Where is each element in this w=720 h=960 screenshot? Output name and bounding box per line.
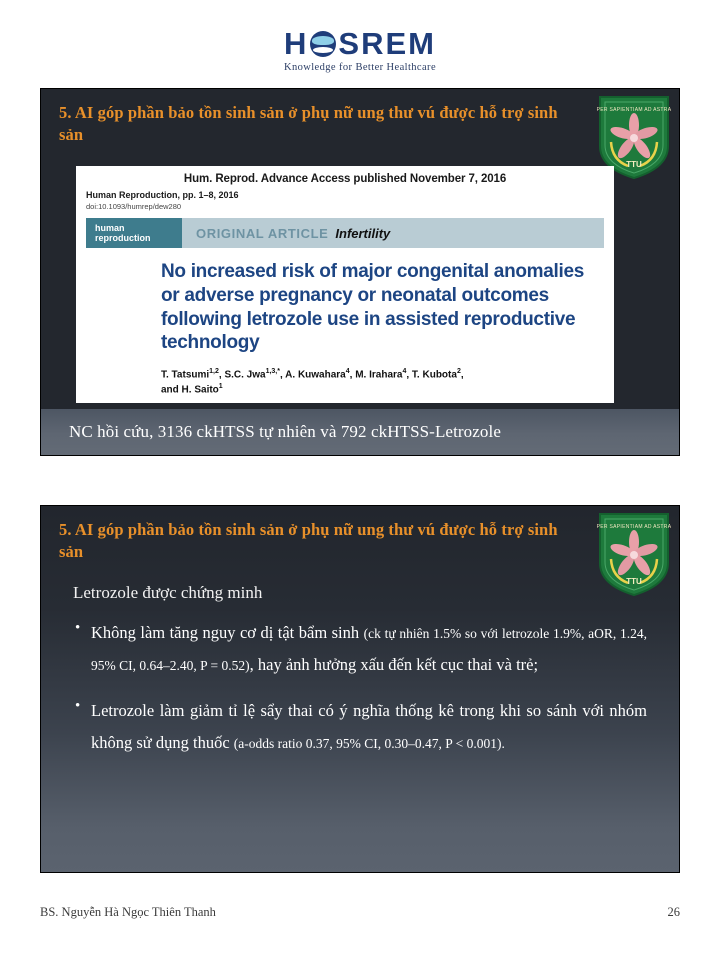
svg-text:PER SAPIENTIAM AD ASTRA: PER SAPIENTIAM AD ASTRA bbox=[597, 107, 672, 113]
bullet-text: Letrozole làm giảm tỉ lệ sẩy thai có ý n… bbox=[91, 695, 657, 759]
author-sep-5: , bbox=[461, 369, 464, 380]
author-name-last: and H. Saito bbox=[161, 385, 219, 396]
journal-banner: human reproduction ORIGINAL ARTICLE Infe… bbox=[86, 218, 604, 248]
svg-text:PER SAPIENTIAM AD ASTRA: PER SAPIENTIAM AD ASTRA bbox=[597, 524, 672, 530]
kicker-subject: Infertility bbox=[335, 226, 390, 241]
bullet-main-text: Không làm tăng nguy cơ dị tật bẩm sinh bbox=[91, 623, 364, 642]
article-authors: T. Tatsumi1,2, S.C. Jwa1,3,*, A. Kuwahar… bbox=[161, 367, 604, 398]
slide-1-title: 5. AI góp phần bảo tồn sinh sản ở phụ nữ… bbox=[41, 89, 679, 146]
lead-line: Letrozole được chứng minh bbox=[69, 583, 657, 603]
logo-tagline: Knowledge for Better Healthcare bbox=[284, 62, 436, 73]
list-item: • Letrozole làm giảm tỉ lệ sẩy thai có ý… bbox=[69, 695, 657, 759]
advance-access-line: Hum. Reprod. Advance Access published No… bbox=[86, 173, 604, 185]
bullet-list: • Không làm tăng nguy cơ dị tật bẩm sinh… bbox=[69, 617, 657, 760]
slide-2: 5. AI góp phần bảo tồn sinh sản ở phụ nữ… bbox=[40, 505, 680, 873]
slide-1-caption: NC hồi cứu, 3136 ckHTSS tự nhiên và 792 … bbox=[41, 409, 679, 455]
hosrem-logo: H SREM bbox=[284, 28, 436, 59]
logo-text-after: SREM bbox=[338, 28, 436, 59]
hosrem-globe-icon bbox=[310, 31, 336, 57]
author-name-1: T. Tatsumi bbox=[161, 369, 209, 380]
footer-author: BS. Nguyễn Hà Ngọc Thiên Thanh bbox=[40, 905, 216, 920]
page-footer: BS. Nguyễn Hà Ngọc Thiên Thanh 26 bbox=[40, 905, 680, 920]
list-item: • Không làm tăng nguy cơ dị tật bẩm sinh… bbox=[69, 617, 657, 681]
author-sup-6: 1 bbox=[219, 383, 223, 390]
slide-1: 5. AI góp phần bảo tồn sinh sản ở phụ nữ… bbox=[40, 88, 680, 456]
bullet-tail-text: , hay ảnh hưởng xấu đến kết cục thai và … bbox=[250, 655, 538, 674]
slide-2-title: 5. AI góp phần bảo tồn sinh sản ở phụ nữ… bbox=[41, 506, 679, 563]
bullet-statistics: (a-odds ratio 0.37, 95% CI, 0.30–0.47, P… bbox=[234, 736, 505, 751]
journal-logo: human reproduction bbox=[86, 218, 182, 248]
author-sep-2: , A. Kuwahara bbox=[280, 369, 346, 380]
author-sup-2: 1,3,* bbox=[266, 368, 280, 375]
journal-reference: Human Reproduction, pp. 1–8, 2016 bbox=[86, 190, 604, 200]
article-kicker: ORIGINAL ARTICLE Infertility bbox=[182, 218, 604, 248]
author-sep-3: , M. Irahara bbox=[350, 369, 403, 380]
caption-text: NC hồi cứu, 3136 ckHTSS tự nhiên và 792 … bbox=[69, 422, 501, 442]
bullet-marker-icon: • bbox=[69, 617, 91, 640]
footer-page-number: 26 bbox=[668, 905, 681, 920]
ttu-crest-icon: PER SAPIENTIAM AD ASTRA TTU bbox=[596, 511, 672, 597]
journal-logo-line2: reproduction bbox=[95, 233, 173, 243]
doi-line: doi:10.1093/humrep/dew280 bbox=[86, 202, 604, 211]
journal-logo-line1: human bbox=[95, 223, 173, 233]
journal-article-scan: Hum. Reprod. Advance Access published No… bbox=[76, 166, 614, 403]
author-sup-1: 1,2 bbox=[209, 368, 219, 375]
author-sep-1: , S.C. Jwa bbox=[219, 369, 266, 380]
author-sep-4: , T. Kubota bbox=[406, 369, 457, 380]
kicker-label: ORIGINAL ARTICLE bbox=[196, 226, 328, 241]
svg-text:TTU: TTU bbox=[626, 577, 642, 586]
page-header: H SREM Knowledge for Better Healthcare bbox=[0, 0, 720, 85]
bullet-text: Không làm tăng nguy cơ dị tật bẩm sinh (… bbox=[91, 617, 657, 681]
logo-text-before: H bbox=[284, 28, 308, 59]
svg-text:TTU: TTU bbox=[626, 160, 642, 169]
bullet-marker-icon: • bbox=[69, 695, 91, 718]
slide-2-body: Letrozole được chứng minh • Không làm tă… bbox=[41, 563, 679, 760]
article-title: No increased risk of major congenital an… bbox=[161, 260, 604, 355]
